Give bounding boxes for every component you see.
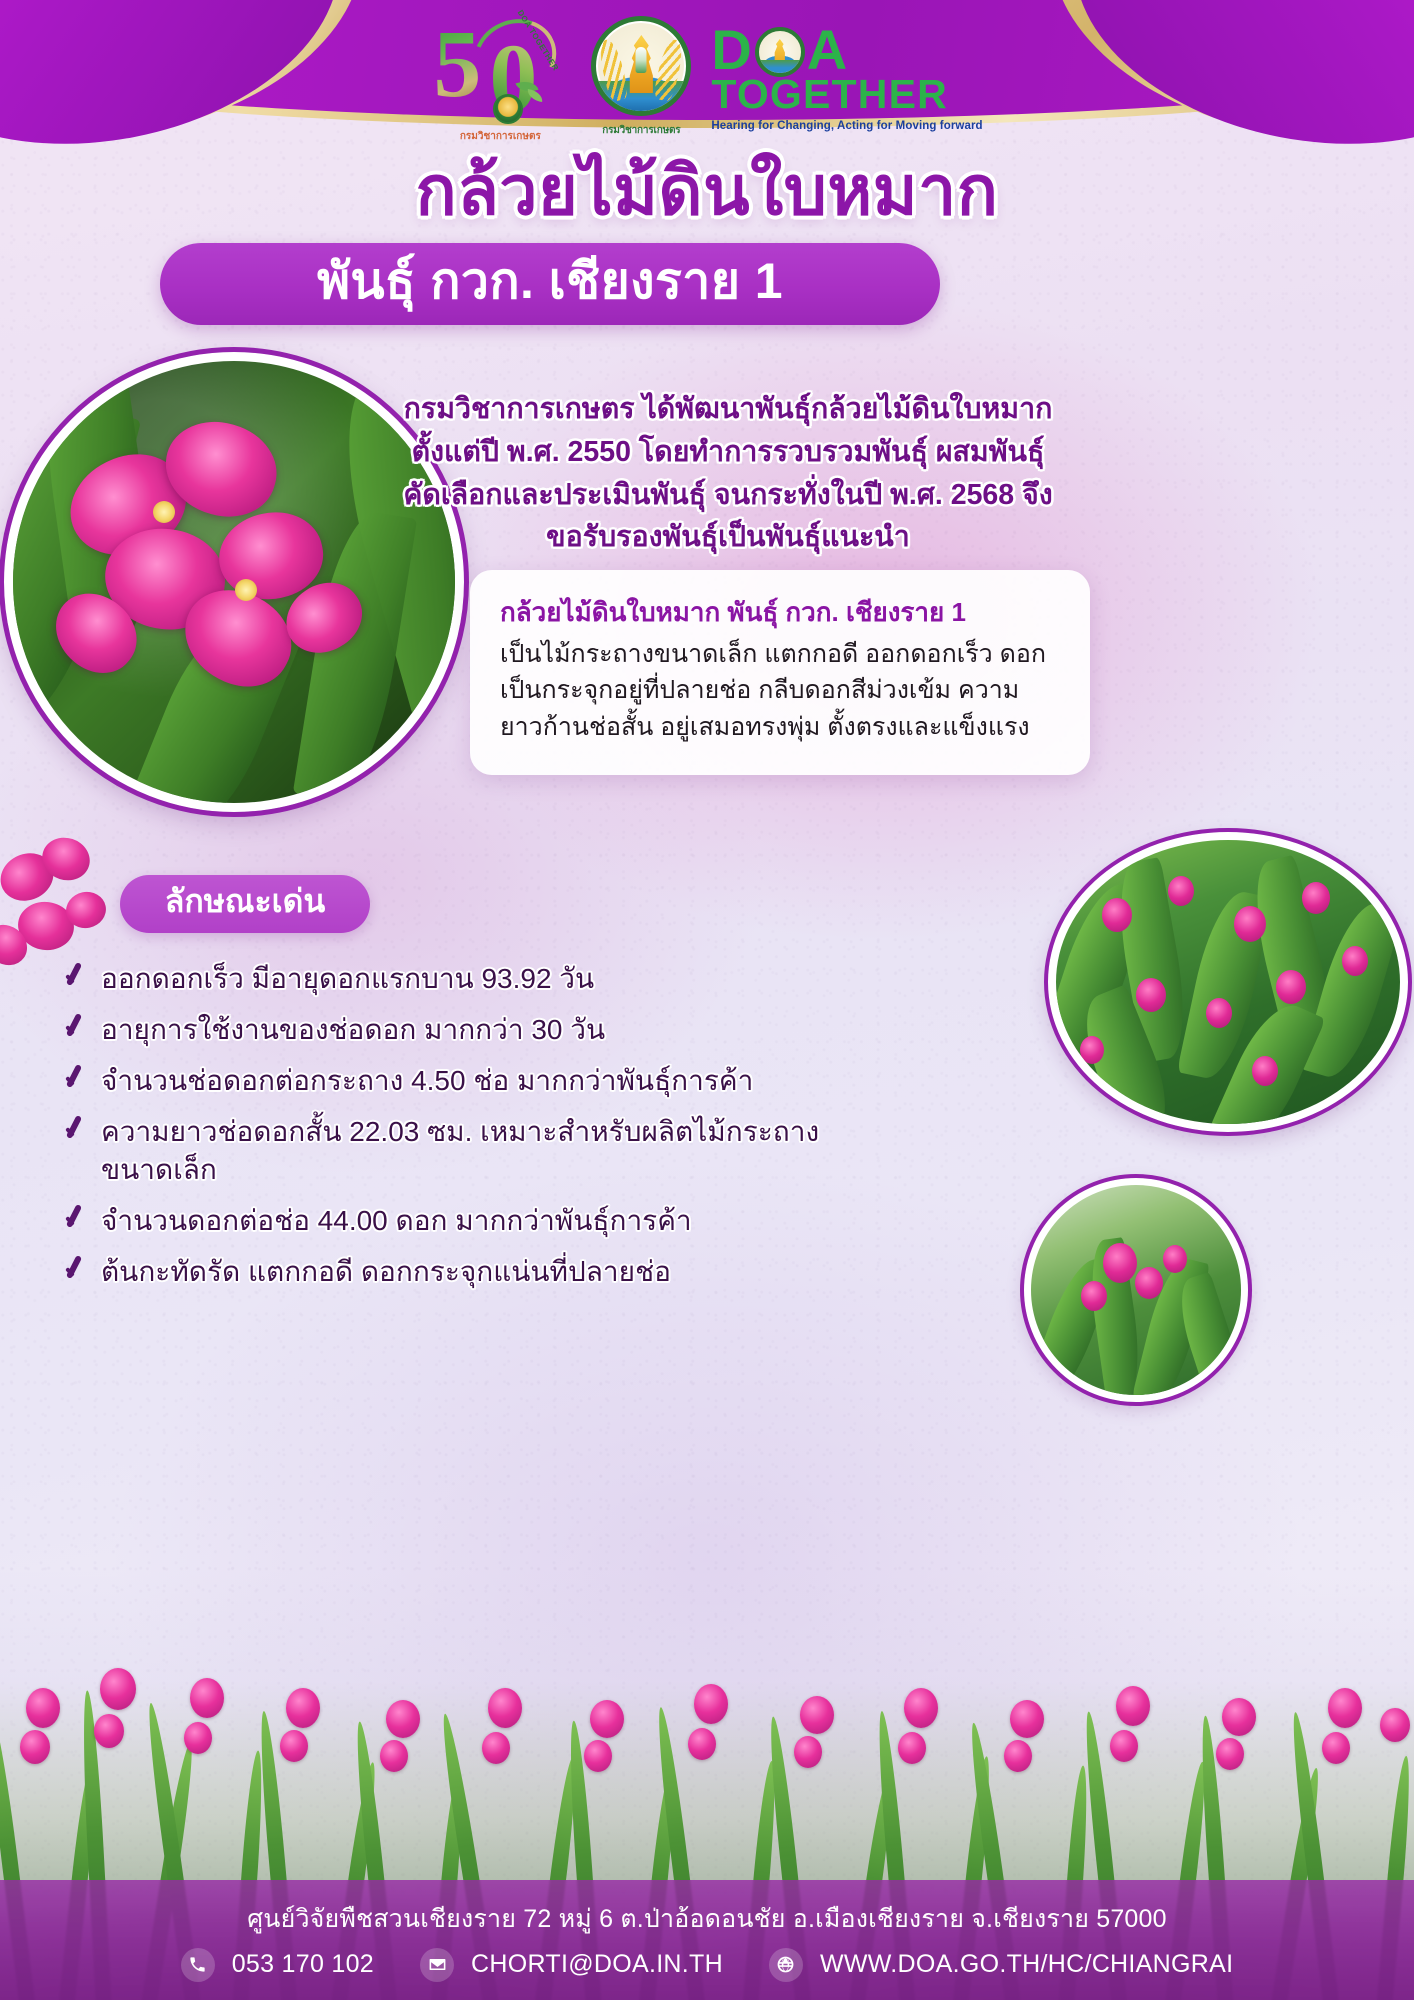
brand-tagline: Hearing for Changing, Acting for Moving … — [711, 120, 982, 132]
potted-orchid-photo — [1024, 1178, 1248, 1402]
footer-email[interactable]: CHORTI@DOA.IN.TH — [471, 1950, 723, 1979]
footer-contact-row: 053 170 102 CHORTI@DOA.IN.TH WWW.DOA.GO.… — [181, 1948, 1234, 1982]
brand-letter-d: D — [711, 24, 752, 76]
check-icon — [62, 1067, 90, 1097]
phone-icon — [181, 1948, 215, 1982]
features-section-label: ลักษณะเด่น — [165, 876, 326, 932]
brand-letter-a: A — [807, 24, 848, 76]
feature-text: จำนวนดอกต่อช่อ 44.00 ดอก มากกว่าพันธุ์กา… — [101, 1202, 692, 1240]
poster-subtitle: พันธุ์ กวก. เชียงราย 1 — [317, 256, 783, 312]
globe-icon — [769, 1948, 803, 1982]
card-body-text: เป็นไม้กระถางขนาดเล็ก แตกกอดี ออกดอกเร็ว… — [500, 636, 1060, 746]
brand-letter-o-seal-icon — [755, 27, 805, 77]
check-icon — [62, 1016, 90, 1046]
check-icon — [62, 965, 90, 995]
variety-description-card: กล้วยไม้ดินใบหมาก พันธุ์ กวก. เชียงราย 1… — [470, 570, 1090, 775]
features-section-pill: ลักษณะเด่น — [120, 875, 370, 933]
footer-address: ศูนย์วิจัยพืชสวนเชียงราย 72 หมู่ 6 ต.ป่า… — [247, 1899, 1167, 1939]
feature-text: ต้นกะทัดรัด แตกกอดี ดอกกระจุกแน่นที่ปลาย… — [101, 1253, 671, 1291]
footer-website[interactable]: WWW.DOA.GO.TH/HC/CHIANGRAI — [820, 1950, 1233, 1979]
feature-text: ความยาวช่อดอกสั้น 22.03 ซม. เหมาะสำหรับผ… — [101, 1113, 832, 1189]
check-icon — [62, 1118, 90, 1148]
contact-footer-bar: ศูนย์วิจัยพืชสวนเชียงราย 72 หมู่ 6 ต.ป่า… — [0, 1880, 1414, 2000]
footer-phone-number[interactable]: 053 170 102 — [232, 1950, 374, 1979]
list-item: ออกดอกเร็ว มีอายุดอกแรกบาน 93.92 วัน — [62, 960, 832, 998]
doa-together-wordmark: D A TOGETHER Hearing for Changing, Actin… — [711, 20, 982, 132]
o-seal-ground — [759, 60, 801, 73]
poster-subtitle-pill: พันธุ์ กวก. เชียงราย 1 — [160, 243, 940, 325]
list-item: ความยาวช่อดอกสั้น 22.03 ซม. เหมาะสำหรับผ… — [62, 1113, 832, 1189]
deity-figure-icon — [636, 47, 647, 73]
feature-text: อายุการใช้งานของช่อดอก มากกว่า 30 วัน — [101, 1011, 605, 1049]
list-item: อายุการใช้งานของช่อดอก มากกว่า 30 วัน — [62, 1011, 832, 1049]
card-heading: กล้วยไม้ดินใบหมาก พันธุ์ กวก. เชียงราย 1 — [500, 596, 1060, 630]
description-paragraph: กรมวิชาการเกษตร ได้พัฒนาพันธุ์กล้วยไม้ดิ… — [392, 388, 1064, 559]
check-icon — [62, 1258, 90, 1288]
brand-line-2: TOGETHER — [711, 74, 982, 115]
list-item: จำนวนดอกต่อช่อ 44.00 ดอก มากกว่าพันธุ์กา… — [62, 1202, 832, 1240]
list-item: ต้นกะทัดรัด แตกกอดี ดอกกระจุกแน่นที่ปลาย… — [62, 1253, 832, 1291]
orchid-field-photo — [1048, 832, 1408, 1132]
check-icon — [62, 1207, 90, 1237]
brand-line-1: D A — [711, 24, 982, 76]
poster-title: กล้วยไม้ดินใบหมาก — [0, 152, 1414, 231]
header-logo-row: 5 0 DOA TOGETHER กรมวิชาการเกษตร กรมวิชา… — [0, 8, 1414, 144]
poster-root: 5 0 DOA TOGETHER กรมวิชาการเกษตร กรมวิชา… — [0, 0, 1414, 2000]
anniversary-50-logo: 5 0 DOA TOGETHER กรมวิชาการเกษตร — [431, 14, 571, 138]
anniversary-caption: กรมวิชาการเกษตร — [425, 129, 575, 144]
doa-official-seal: กรมวิชาการเกษตร — [585, 14, 697, 138]
seal-caption: กรมวิชาการเกษตร — [585, 123, 697, 138]
list-item: จำนวนช่อดอกต่อกระถาง 4.50 ช่อ มากกว่าพัน… — [62, 1062, 832, 1100]
seal-disc-icon — [591, 16, 691, 116]
email-icon — [420, 1948, 454, 1982]
features-list: ออกดอกเร็ว มีอายุดอกแรกบาน 93.92 วัน อาย… — [62, 960, 832, 1305]
feature-text: ออกดอกเร็ว มีอายุดอกแรกบาน 93.92 วัน — [101, 960, 594, 998]
feature-text: จำนวนช่อดอกต่อกระถาง 4.50 ช่อ มากกว่าพัน… — [101, 1062, 753, 1100]
